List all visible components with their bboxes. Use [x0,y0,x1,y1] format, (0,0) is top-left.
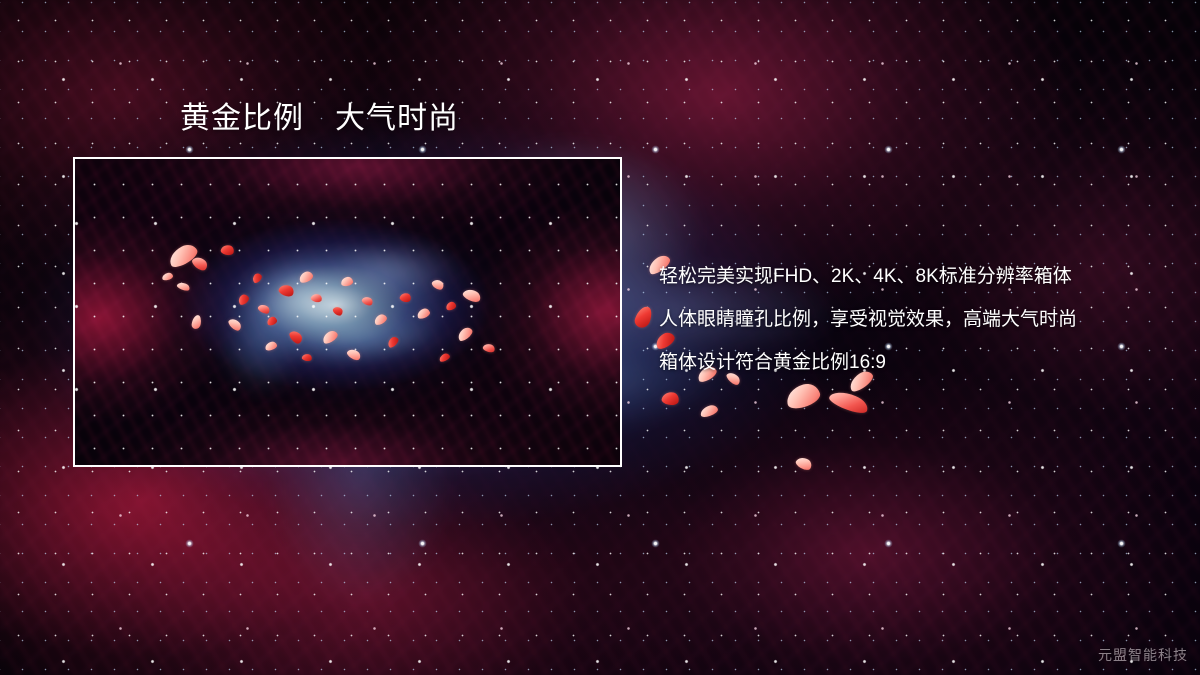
preview-image [75,159,620,465]
slide-title: 黄金比例 大气时尚 [180,101,459,137]
flower-petal [794,455,813,473]
body-copy: 轻松完美实现FHD、2K、4K、8K标准分辨率箱体 人体眼睛瞳孔比例，享受视觉效… [659,255,1139,384]
body-line-2: 人体眼睛瞳孔比例，享受视觉效果，高端大气时尚 [659,298,1139,341]
flower-petal [633,304,654,330]
preview-frame[interactable] [73,157,622,467]
presentation-slide: 黄金比例 大气时尚 轻松完美实现FHD、2K、4K、8K标准分辨率箱体 人体眼睛… [0,0,1200,675]
body-line-1: 轻松完美实现FHD、2K、4K、8K标准分辨率箱体 [659,255,1139,298]
body-line-3: 箱体设计符合黄金比例16:9 [659,341,1139,384]
flower-petal [827,387,870,417]
flower-petal [661,390,680,406]
flower-petal [699,403,719,418]
watermark: 元盟智能科技 [1098,645,1188,665]
preview-starfield [75,159,620,465]
flower-petal [784,381,823,412]
